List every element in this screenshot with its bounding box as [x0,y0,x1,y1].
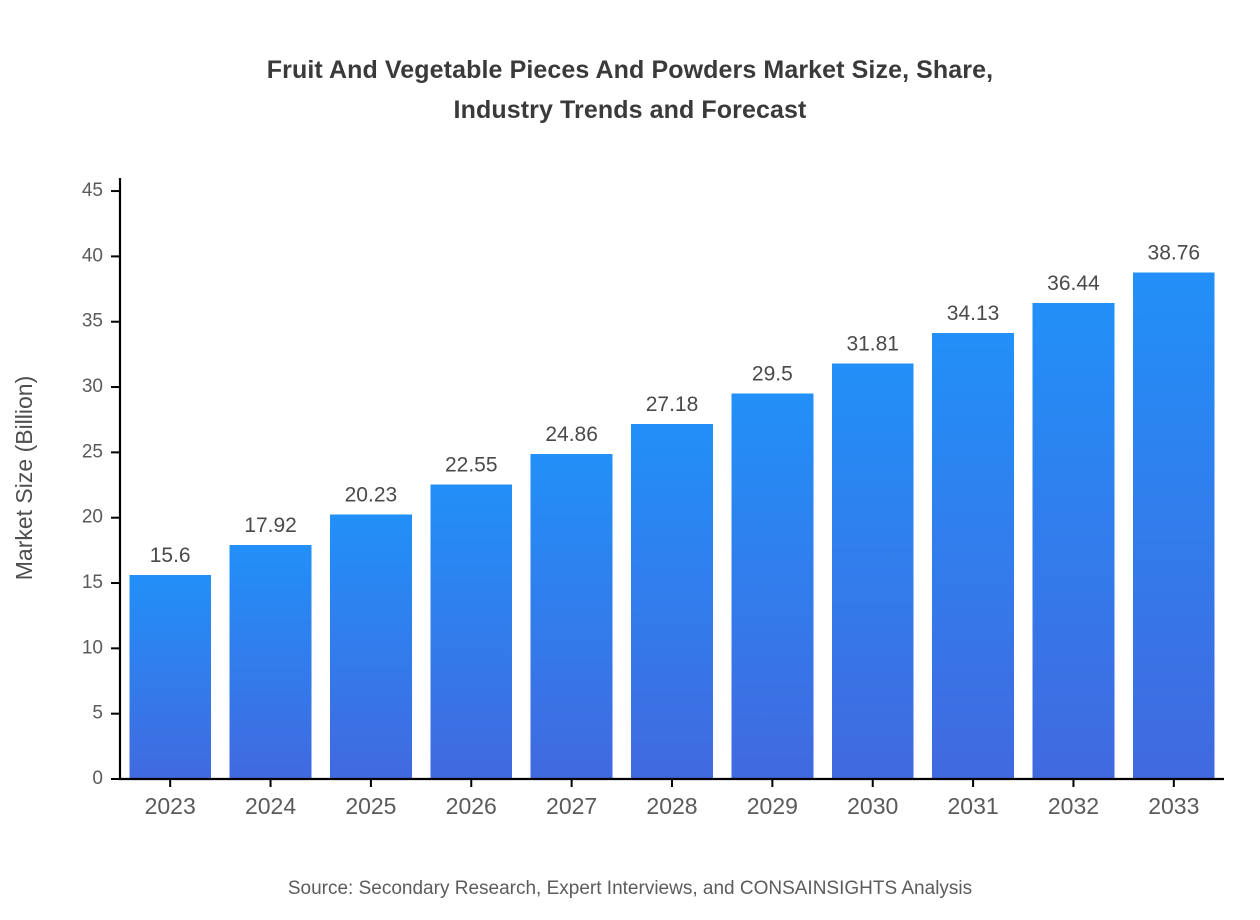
bar-2030[interactable] [832,363,914,779]
bar-value-label-2029: 29.5 [752,363,793,386]
bar-2024[interactable] [230,545,312,779]
x-tick-label-2023: 2023 [145,793,196,819]
bar-2023[interactable] [129,575,211,779]
x-axis-ticks: 2023202420252026202720282029203020312032… [145,779,1200,819]
x-tick-label-2033: 2033 [1148,793,1199,819]
bar-value-label-2025: 20.23 [345,484,398,507]
x-tick-label-2024: 2024 [245,793,296,819]
bar-chart-figure: Fruit And Vegetable Pieces And Powders M… [0,0,1260,920]
x-tick-label-2026: 2026 [446,793,497,819]
y-tick-label-15: 15 [82,572,103,593]
bar-value-label-2033: 38.76 [1148,242,1201,265]
chart-plot-area: 15.617.9220.2322.5524.8627.1829.531.8134… [0,0,1260,920]
y-axis-ticks: 051015202530354045 [82,180,120,789]
x-tick-label-2029: 2029 [747,793,798,819]
bar-2029[interactable] [731,394,813,779]
y-tick-label-10: 10 [82,637,103,658]
y-tick-label-25: 25 [82,441,103,462]
bar-value-label-2028: 27.18 [646,393,699,416]
bar-2033[interactable] [1133,273,1215,779]
bar-2032[interactable] [1033,303,1115,779]
bar-2026[interactable] [430,484,512,779]
y-tick-label-0: 0 [92,768,103,789]
bar-value-label-2032: 36.44 [1047,272,1100,295]
bar-2027[interactable] [531,454,613,779]
x-tick-label-2032: 2032 [1048,793,1099,819]
bar-2031[interactable] [932,333,1014,779]
bar-value-label-2023: 15.6 [150,544,191,567]
x-tick-label-2028: 2028 [646,793,697,819]
chart-source-note: Source: Secondary Research, Expert Inter… [0,878,1260,900]
y-tick-label-40: 40 [82,245,103,266]
bar-value-label-2024: 17.92 [244,514,297,537]
x-tick-label-2031: 2031 [948,793,999,819]
y-tick-label-5: 5 [92,703,103,724]
y-tick-label-45: 45 [82,180,103,201]
bar-value-label-2027: 24.86 [545,423,598,446]
bar-value-label-2031: 34.13 [947,302,1000,325]
y-axis-label: Market Size (Billion) [11,376,37,581]
bar-value-label-2026: 22.55 [445,453,498,476]
y-tick-label-35: 35 [82,311,103,332]
y-tick-label-30: 30 [82,376,103,397]
y-tick-label-20: 20 [82,507,103,528]
bar-2028[interactable] [631,424,713,779]
bar-2025[interactable] [330,515,412,779]
x-tick-label-2030: 2030 [847,793,898,819]
bar-value-label-2030: 31.81 [846,332,899,355]
x-tick-label-2027: 2027 [546,793,597,819]
x-tick-label-2025: 2025 [345,793,396,819]
